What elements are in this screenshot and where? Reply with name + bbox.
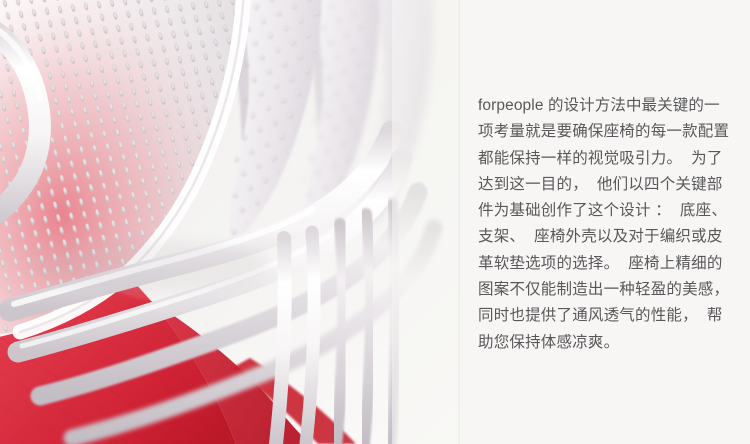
copy-line: 件为基础创作了这个设计 ： 底座、 — [478, 198, 736, 224]
copy-line: 项考量就是要确保座椅的每一款配置 — [478, 119, 736, 145]
copy-line: 支架、 座椅外壳以及对于编织或皮 — [478, 224, 736, 250]
chair-leg-4 — [364, 214, 371, 444]
contact-shadow — [30, 240, 270, 292]
chair-leg-3 — [336, 224, 343, 444]
copy-line: 都能保持一样的视觉吸引力。 为了 — [478, 146, 736, 172]
copy-line: 图案不仅能制造出一种轻盈的美感， — [478, 277, 736, 303]
copy-line: 同时也提供了通风透气的性能， 帮 — [478, 303, 736, 329]
stacked-chairs-illustration — [0, 0, 460, 444]
copy-line: 助您保持体感凉爽。 — [478, 330, 736, 356]
copy-line: forpeople 的设计方法中最关键的一 — [478, 93, 736, 119]
photo-edge-fade — [392, 0, 460, 444]
product-photo — [0, 0, 460, 444]
copy-line: 达到这一目的， 他们以四个关键部 — [478, 172, 736, 198]
copy-region: forpeople 的设计方法中最关键的一 项考量就是要确保座椅的每一款配置 都… — [460, 0, 750, 444]
product-detail-page: forpeople 的设计方法中最关键的一 项考量就是要确保座椅的每一款配置 都… — [0, 0, 750, 444]
product-description: forpeople 的设计方法中最关键的一 项考量就是要确保座椅的每一款配置 都… — [478, 93, 736, 356]
copy-line: 革软垫选项的选择。 座椅上精细的 — [478, 251, 736, 277]
chair-leg-2 — [306, 232, 314, 444]
